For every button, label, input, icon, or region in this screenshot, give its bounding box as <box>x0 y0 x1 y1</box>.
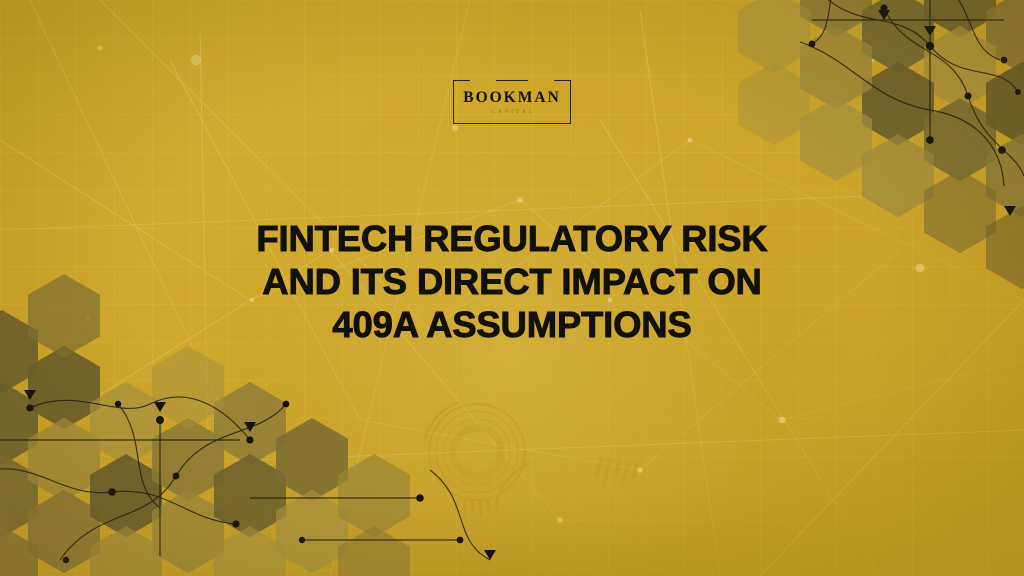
title-slide: BOOKMAN CAPITAL FINTECH REGULATORY RISK … <box>0 0 1024 576</box>
brand-logo[interactable]: BOOKMAN CAPITAL <box>453 80 571 124</box>
logo-wordmark: BOOKMAN <box>463 90 561 106</box>
logo-submark: CAPITAL <box>492 110 536 115</box>
slide-title: FINTECH REGULATORY RISK AND ITS DIRECT I… <box>0 217 1024 346</box>
slide-title-line-2: AND ITS DIRECT IMPACT ON <box>0 260 1024 303</box>
slide-title-line-1: FINTECH REGULATORY RISK <box>0 217 1024 260</box>
slide-title-line-3: 409A ASSUMPTIONS <box>0 303 1024 346</box>
